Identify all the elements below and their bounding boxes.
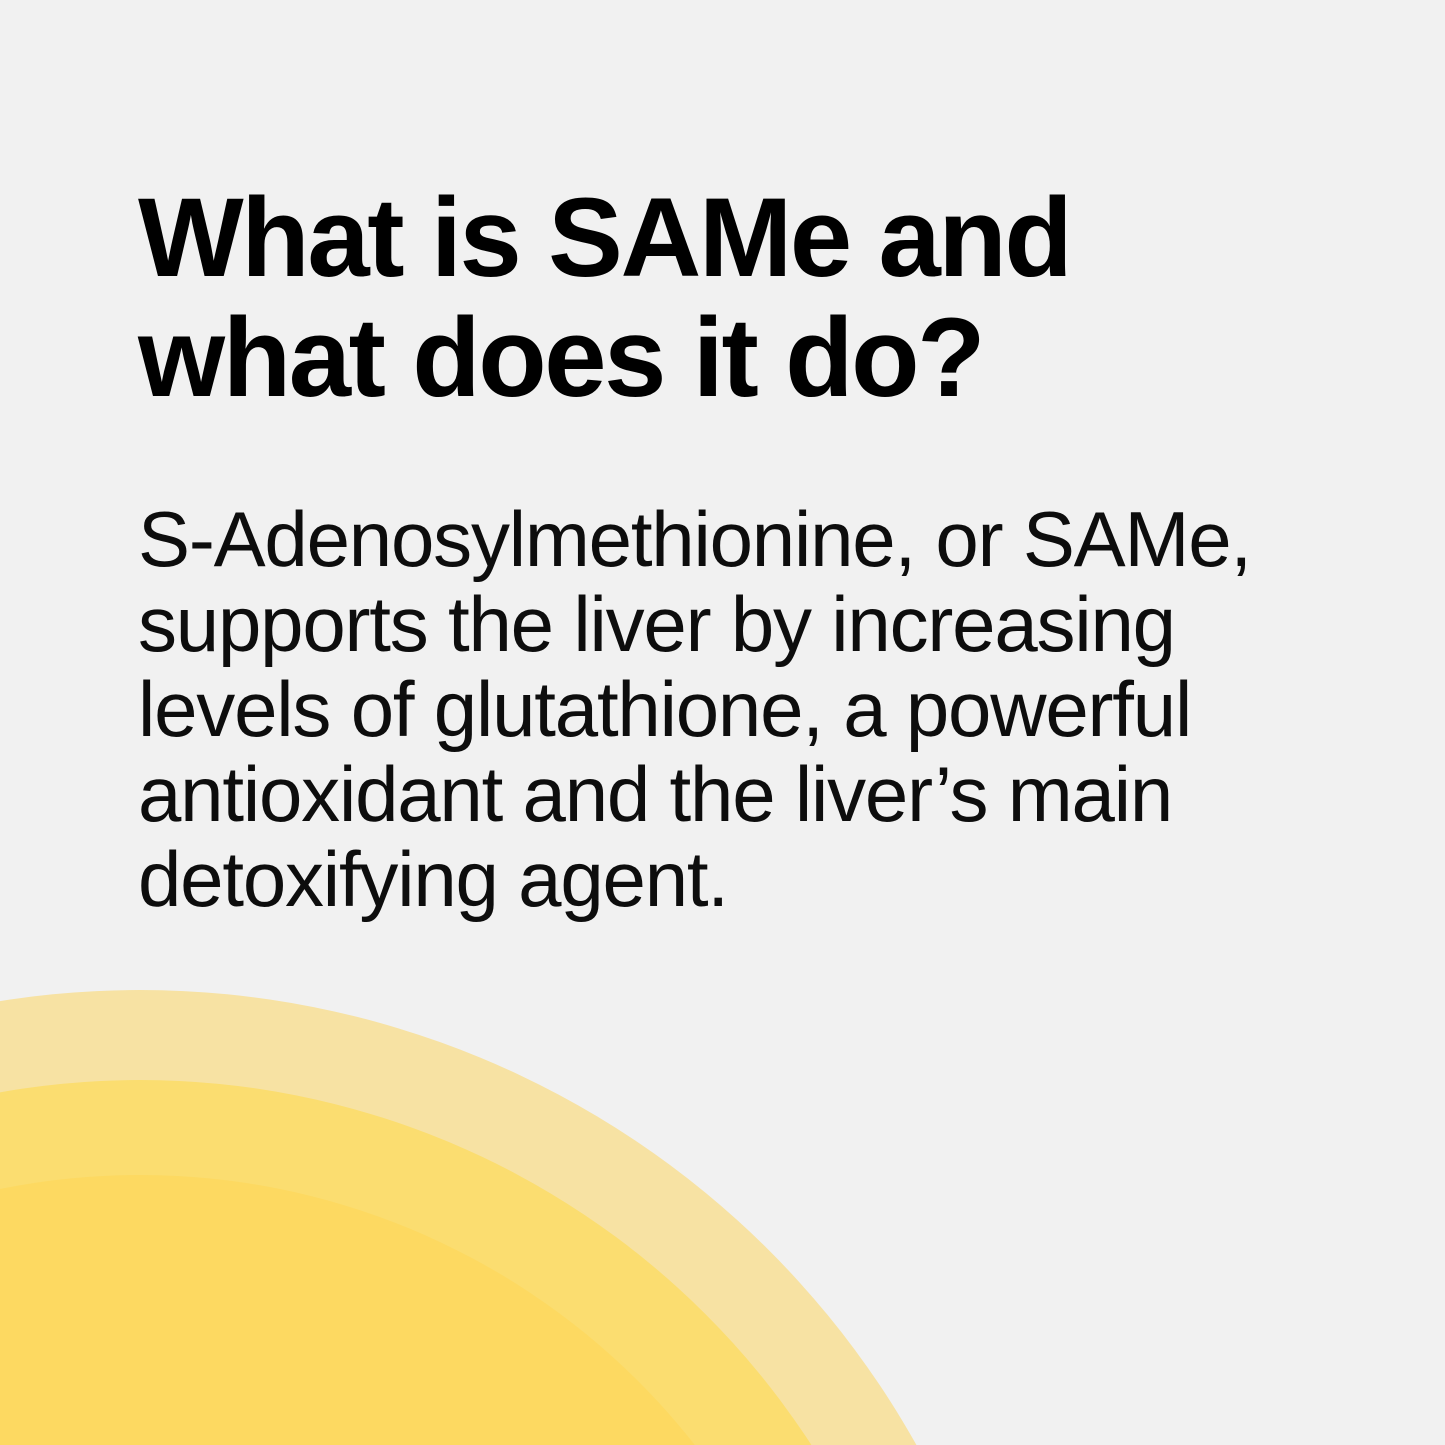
outer-pale-arc	[0, 990, 1030, 1445]
middle-yellow-arc	[0, 1080, 940, 1445]
body-copy: S-Adenosylmethionine, or SAMe, supports …	[138, 497, 1278, 922]
body-copy-wrap: S-Adenosylmethionine, or SAMe, supports …	[138, 497, 1278, 922]
inner-yellow-arc	[0, 1175, 845, 1445]
page-title-wrap: What is SAMe and what does it do?	[138, 178, 1258, 418]
page-title: What is SAMe and what does it do?	[138, 178, 1258, 418]
promo-card: What is SAMe and what does it do? S-Aden…	[0, 0, 1445, 1445]
